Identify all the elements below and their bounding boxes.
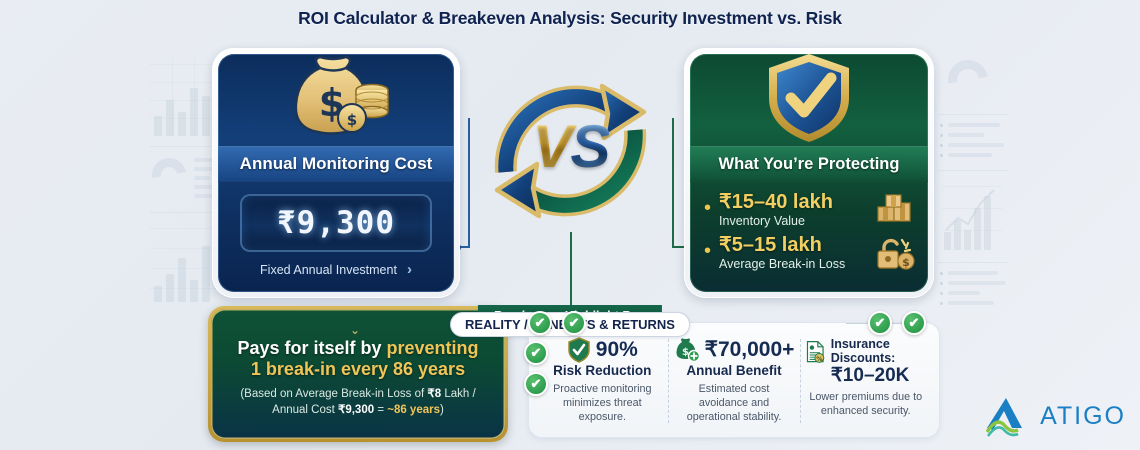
check-badge-1: ✔ bbox=[528, 311, 552, 335]
shield-check-icon bbox=[761, 54, 857, 146]
connector-left-vertical bbox=[468, 118, 470, 248]
money-bag-plus-icon: $ bbox=[674, 337, 700, 363]
bg-decoration-right bbox=[938, 58, 1010, 320]
insurance-value: ₹10–20K bbox=[831, 366, 925, 386]
annual-benefit-title: Annual Benefit bbox=[674, 363, 795, 378]
versus-v: V bbox=[532, 113, 570, 180]
insurance-title: Insurance Discounts: bbox=[831, 337, 925, 366]
annual-cost-card[interactable]: $ $ Annual Monitoring Cost bbox=[212, 48, 460, 298]
annual-benefit-desc: Estimated cost avoidance and operational… bbox=[674, 382, 795, 424]
broken-lock-icon: $ bbox=[876, 234, 916, 272]
boxes-icon bbox=[876, 193, 916, 227]
check-badge-3: ✔ bbox=[868, 311, 892, 335]
breakin-label: Average Break-in Loss bbox=[719, 257, 868, 271]
protect-card-header: What You’re Protecting bbox=[690, 146, 928, 182]
bullet-icon: • bbox=[704, 198, 711, 218]
breakeven-headline-line2: 1 break-in every 86 years bbox=[251, 359, 465, 379]
inventory-amount: ₹15–40 lakh bbox=[719, 192, 868, 213]
document-percent-icon: % bbox=[806, 337, 825, 367]
breakeven-headline-part1: Pays for itself by bbox=[237, 338, 386, 358]
connector-right-vertical bbox=[672, 118, 674, 248]
breakeven-sub-post: ) bbox=[440, 404, 444, 416]
chevron-right-icon[interactable]: › bbox=[407, 261, 412, 278]
benefit-risk-reduction[interactable]: 90% Risk Reduction Proactive monitoring … bbox=[537, 337, 668, 429]
check-badge-2: ✔ bbox=[562, 311, 586, 335]
atigo-logo[interactable]: ATIGO bbox=[986, 394, 1126, 438]
bullet-icon: • bbox=[704, 241, 711, 261]
benefit-annual-benefit[interactable]: $ ₹70,000+ Annual Benefit Estimated cost… bbox=[668, 337, 801, 429]
atigo-logo-text: ATIGO bbox=[1040, 402, 1126, 431]
breakeven-subtext: (Based on Average Break-in Loss of ₹8 La… bbox=[211, 387, 505, 417]
check-badge-5: ✔ bbox=[524, 341, 548, 365]
breakin-amount: ₹5–15 lakh bbox=[719, 235, 868, 256]
breakeven-headline: Pays for itself by preventing 1 break-in… bbox=[211, 338, 505, 380]
versus-badge: VS bbox=[478, 60, 663, 240]
breakeven-sub-pre: (Based on Average Break-in Loss of bbox=[240, 388, 427, 400]
bg-decoration-left bbox=[150, 58, 218, 318]
cost-value-display: ₹9,300 bbox=[240, 194, 432, 252]
insurance-desc: Lower premiums due to enhanced security. bbox=[806, 390, 925, 418]
protect-item-inventory: • ₹15–40 lakh Inventory Value bbox=[704, 192, 916, 228]
page-title: ROI Calculator & Breakeven Analysis: Sec… bbox=[0, 8, 1140, 29]
cost-value: ₹9,300 bbox=[277, 205, 395, 241]
breakeven-sub-years: ~86 years bbox=[387, 404, 440, 416]
shield-icon-zone bbox=[690, 54, 928, 146]
versus-text: VS bbox=[478, 112, 663, 181]
inventory-label: Inventory Value bbox=[719, 214, 868, 228]
versus-s: S bbox=[571, 113, 609, 180]
breakeven-sub-loss: ₹8 bbox=[427, 388, 441, 400]
breakeven-headline-gold: preventing bbox=[387, 338, 479, 358]
cost-card-header: Annual Monitoring Cost bbox=[218, 146, 454, 182]
connector-center-drop bbox=[570, 232, 572, 312]
cost-footer-label: Fixed Annual Investment bbox=[260, 263, 397, 277]
risk-reduction-desc: Proactive monitoring minimizes threat ex… bbox=[543, 382, 662, 424]
annual-benefit-value: ₹70,000+ bbox=[705, 339, 795, 361]
shield-check-small-icon bbox=[567, 337, 591, 363]
money-bag-icon-zone: $ $ bbox=[218, 54, 454, 146]
risk-reduction-title: Risk Reduction bbox=[543, 363, 662, 378]
svg-text:%: % bbox=[817, 356, 824, 363]
benefits-panel: 90% Risk Reduction Proactive monitoring … bbox=[528, 322, 940, 438]
svg-text:$: $ bbox=[902, 256, 910, 269]
protect-item-breakin: • ₹5–15 lakh Average Break-in Loss $ bbox=[704, 234, 916, 272]
check-badge-6: ✔ bbox=[524, 372, 548, 396]
svg-text:$: $ bbox=[347, 111, 357, 129]
risk-reduction-value: 90% bbox=[596, 339, 638, 361]
check-badge-4: ✔ bbox=[902, 311, 926, 335]
infographic-canvas: ROI Calculator & Breakeven Analysis: Sec… bbox=[0, 0, 1140, 450]
breakeven-sub-eq: = bbox=[374, 404, 387, 416]
money-bag-icon: $ $ bbox=[276, 54, 396, 144]
atigo-peak-icon bbox=[986, 394, 1034, 438]
what-youre-protecting-card[interactable]: What You’re Protecting • ₹15–40 lakh Inv… bbox=[684, 48, 934, 298]
benefit-insurance-discounts[interactable]: % Insurance Discounts: ₹10–20K Lower pre… bbox=[800, 337, 931, 429]
breakeven-sub-cost: ₹9,300 bbox=[338, 404, 374, 416]
